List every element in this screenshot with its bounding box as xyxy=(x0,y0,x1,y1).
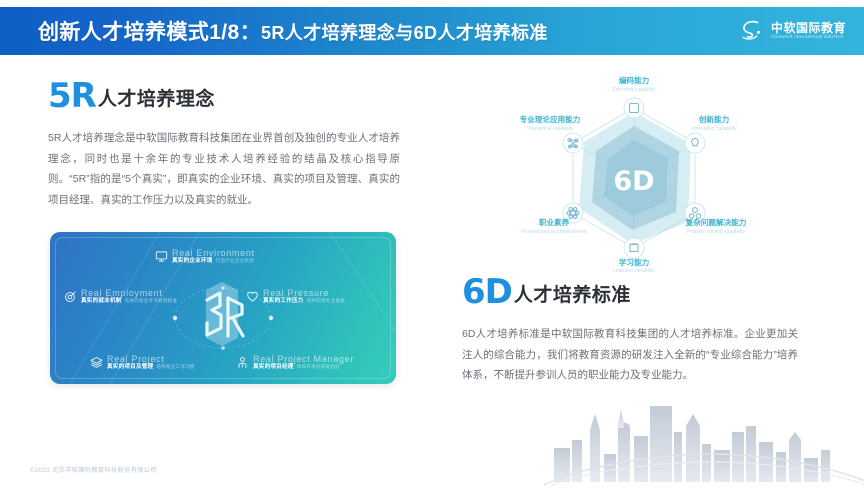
radar-label-en-encoding: Encoding capability xyxy=(612,87,656,93)
card-item-en: Real Employment xyxy=(81,288,177,298)
radar-label-cn-problem-solving: 复杂问题解决能力 xyxy=(685,217,747,227)
card-item-real-employment: Real Employment 真实的就业机制 先进的就业考评机制标准 xyxy=(64,288,177,305)
card-item-en: Real Pressure xyxy=(263,288,345,298)
radar-label-en-learning: Learning capability xyxy=(613,268,655,272)
section-6d-title: 6D 人才培养标准 xyxy=(462,276,798,308)
brand-name-en: Chinasoft International EduTech xyxy=(771,35,846,40)
section-5r: 5R 人才培养理念 5R人才培养理念是中软国际教育科技集团在业界首创及独创的专业… xyxy=(48,80,400,210)
card-item-cn-sub: 培养职场专业素质 xyxy=(307,298,345,303)
radar-label-en-problem-solving: Problem solving capability xyxy=(687,229,745,235)
card-item-en: Real Environment xyxy=(172,248,255,258)
section-6d-paragraph: 6D人才培养标准是中软国际教育科技集团的人才培养标准。企业更加关注人的综合能力，… xyxy=(462,324,798,385)
radar-label-cn-professional: 职业素养 xyxy=(539,217,570,227)
card-item-cn: 真实的工作压力 xyxy=(263,298,304,304)
card-item-text: Real Pressure 真实的工作压力 培养职场专业素质 xyxy=(263,288,345,305)
card-item-cn-row: 真实的企业环境 打造行业企业氛围 xyxy=(172,258,255,264)
card-item-real-project: Real Project 真实的项目及管理 培养就业工作习惯 xyxy=(90,354,195,371)
card-item-cn: 真实的就业机制 xyxy=(81,298,122,304)
section-6d-title-sub: 人才培养标准 xyxy=(514,286,631,308)
person-icon xyxy=(236,356,249,369)
card-item-real-pressure: Real Pressure 真实的工作压力 培养职场专业素质 xyxy=(246,288,345,305)
section-6d-title-big: 6D xyxy=(462,276,512,308)
card-item-text: Real Environment 真实的企业环境 打造行业企业氛围 xyxy=(172,248,255,265)
radar-label-cn-innovation: 创新能力 xyxy=(698,114,730,124)
radar-node-innovation xyxy=(685,133,705,153)
card-item-cn-sub: 先进的就业考评机制标准 xyxy=(125,298,178,303)
copyright-note: ©2023 北京中软国际教育科技股份有限公司 xyxy=(30,465,157,474)
radar-node-encoding xyxy=(624,98,644,118)
chinasoft-swoosh-logo-icon xyxy=(738,18,764,44)
section-5r-title: 5R 人才培养理念 xyxy=(48,80,400,112)
radar-label-cn-encoding: 编码能力 xyxy=(619,75,650,85)
card-item-cn: 真实的企业环境 xyxy=(172,258,213,264)
five-r-diagram-card: 5R Real Environment 真实的企业环境 打造行业企业氛围 xyxy=(50,232,396,384)
radar-label-cn-learning: 学习能力 xyxy=(619,257,650,267)
card-item-cn-row: 真实的项目经理 项目开发的研发经验 xyxy=(253,364,354,370)
brand-text: 中软国际教育 Chinasoft International EduTech xyxy=(771,22,846,39)
six-d-radar-diagram: 6D xyxy=(498,72,770,272)
radar-label-en-professional: Professional accomplishment xyxy=(521,229,587,235)
card-item-text: Real Project 真实的项目及管理 培养就业工作习惯 xyxy=(107,354,195,371)
page-title-main: 创新人才培养模式1/8： xyxy=(38,21,261,44)
radar-node-learning xyxy=(624,238,644,258)
brand-name-cn: 中软国际教育 xyxy=(771,22,846,35)
card-item-cn-row: 真实的工作压力 培养职场专业素质 xyxy=(263,298,345,304)
radar-label-en-innovation: Innovation capability xyxy=(691,126,737,132)
card-item-text: Real Employment 真实的就业机制 先进的就业考评机制标准 xyxy=(81,288,177,305)
radar-label-cn-theoretical: 专业理论应用能力 xyxy=(520,114,581,124)
slide-root: 创新人才培养模式1/8：5R人才培养理念与6D人才培养标准 中软国际教育 Chi… xyxy=(0,0,864,488)
card-item-cn-sub: 项目开发的研发经验 xyxy=(297,364,340,369)
card-item-cn-row: 真实的就业机制 先进的就业考评机制标准 xyxy=(81,298,177,304)
section-5r-title-sub: 人才培养理念 xyxy=(98,90,215,112)
radar-label-en-theoretical: Theoretical capability xyxy=(527,126,574,132)
card-item-en: Real Project xyxy=(107,354,195,364)
card-item-cn-sub: 培养就业工作习惯 xyxy=(156,364,194,369)
card-item-real-project-manager: Real Project Manager 真实的项目经理 项目开发的研发经验 xyxy=(236,354,354,371)
page-title: 创新人才培养模式1/8：5R人才培养理念与6D人才培养标准 xyxy=(38,16,548,46)
layers-icon xyxy=(90,356,103,369)
card-item-en: Real Project Manager xyxy=(253,354,354,364)
card-item-cn-sub: 打造行业企业氛围 xyxy=(216,258,254,263)
slide-header: 创新人才培养模式1/8：5R人才培养理念与6D人才培养标准 中软国际教育 Chi… xyxy=(0,7,864,55)
card-item-text: Real Project Manager 真实的项目经理 项目开发的研发经验 xyxy=(253,354,354,371)
card-item-real-environment: Real Environment 真实的企业环境 打造行业企业氛围 xyxy=(155,248,255,265)
radar-center-label: 6D xyxy=(613,166,654,197)
section-5r-paragraph: 5R人才培养理念是中软国际教育科技集团在业界首创及独创的专业人才培养理念，同时也… xyxy=(48,128,400,210)
section-6d: 6D 人才培养标准 6D人才培养标准是中软国际教育科技集团的人才培养标准。企业更… xyxy=(462,276,798,386)
card-item-cn: 真实的项目及管理 xyxy=(107,364,153,370)
card-item-cn-row: 真实的项目及管理 培养就业工作习惯 xyxy=(107,364,195,370)
heart-icon xyxy=(246,290,259,303)
monitor-icon xyxy=(155,250,168,263)
target-icon xyxy=(64,290,77,303)
brand-logo: 中软国际教育 Chinasoft International EduTech xyxy=(738,18,846,44)
card-item-cn: 真实的项目经理 xyxy=(253,364,294,370)
city-skyline-graphic-icon xyxy=(544,392,864,488)
page-title-rest: 5R人才培养理念与6D人才培养标准 xyxy=(261,23,548,43)
section-5r-title-big: 5R xyxy=(48,80,96,112)
